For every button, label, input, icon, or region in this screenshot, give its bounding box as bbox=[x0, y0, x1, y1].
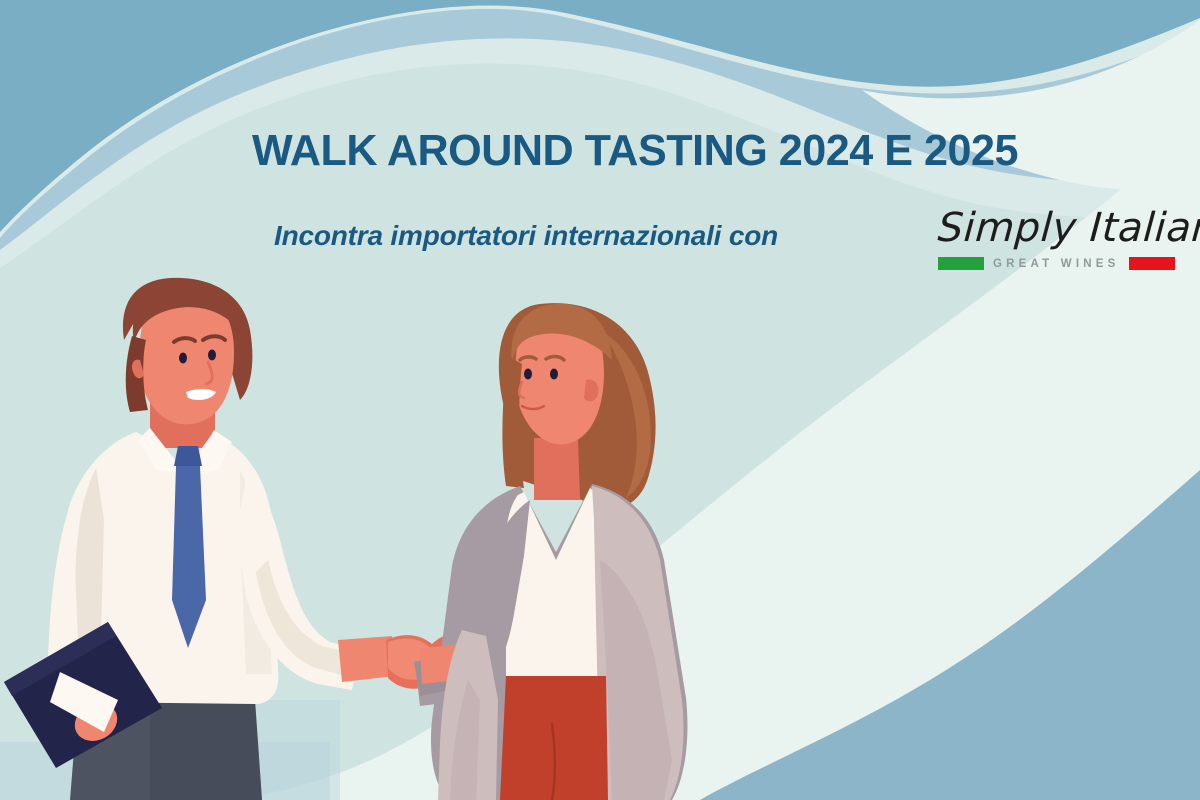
woman-neck bbox=[534, 438, 580, 500]
woman-eye-left bbox=[524, 369, 532, 380]
man-eye-left bbox=[179, 353, 187, 364]
handshake-illustration bbox=[0, 0, 1200, 800]
businessman-figure bbox=[4, 400, 396, 800]
man-tie-knot bbox=[174, 446, 202, 466]
businesswoman-figure bbox=[414, 303, 687, 800]
businessman-head bbox=[123, 278, 252, 425]
man-trousers-shade bbox=[150, 700, 262, 800]
man-eye-right bbox=[208, 350, 216, 361]
promo-banner: WALK AROUND TASTING 2024 E 2025 Incontra… bbox=[0, 0, 1200, 800]
woman-eye-right bbox=[550, 369, 558, 380]
